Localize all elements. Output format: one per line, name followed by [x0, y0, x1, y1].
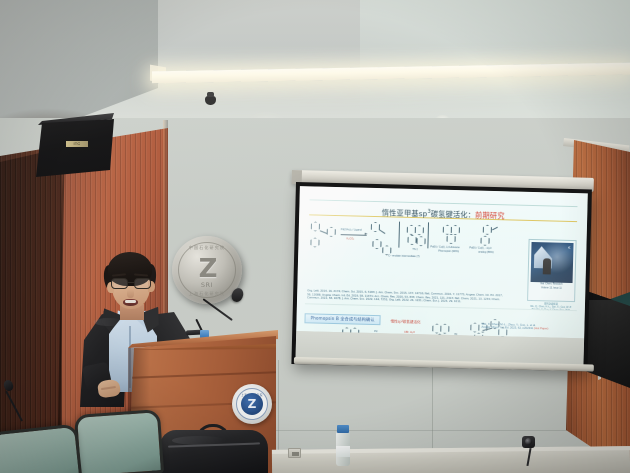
- section2-reference: Wei, X.; Chen, M.-L.; Zhou, Y.; Guo, L. …: [481, 323, 548, 332]
- water-bottle-label: [336, 446, 350, 457]
- section2-header: Phomopsin B 全合成与结构确认: [304, 313, 380, 325]
- chem-ring: [443, 225, 452, 235]
- chem-ring: [371, 222, 380, 232]
- ceiling-camera-icon: [205, 96, 216, 105]
- section2-ref-line2: Angew. Chem. Int. Ed. 2023, 62, e202311 …: [481, 326, 548, 331]
- reaction-arrow: [341, 234, 367, 235]
- speaker-brand-label: ITC: [66, 141, 88, 147]
- audience-chair: [0, 424, 83, 473]
- chem-bond: [379, 229, 385, 233]
- chem-ring: [446, 234, 455, 244]
- presentation-slide: 惰性亚甲基sp3碳氢键活化：前期研究 Pd(OAc)₂ / Ligand K₂C…: [296, 186, 588, 338]
- nose: [127, 289, 134, 298]
- chem-ring: [327, 227, 336, 237]
- emblem-arc-top-text: 中国石化研究院: [189, 245, 225, 251]
- power-outlet: [288, 448, 301, 458]
- intermediate-bracket: [398, 222, 429, 249]
- chem-ring: [451, 225, 460, 235]
- mouth: [123, 299, 138, 306]
- lens-right: [134, 278, 151, 289]
- slide-title: 惰性亚甲基sp3碳氢键活化：前期研究: [382, 208, 505, 220]
- chem-ring: [483, 225, 492, 235]
- projection-surface: 惰性亚甲基sp3碳氢键活化：前期研究 Pd(OAc)₂ / Ligand K₂C…: [295, 186, 587, 367]
- cover-art-figure: [543, 258, 551, 274]
- section2-subtitle: 惰性sp³碳氢键活化: [390, 319, 420, 325]
- slide-body: Pd(OAc)₂ / Ligand K₂CO₃ TS ‡: [304, 217, 579, 334]
- journal-title-line2: Volume 13, Issue 11: [530, 287, 572, 291]
- chem-ring: [311, 221, 320, 231]
- chem-bond: [492, 227, 498, 230]
- water-bottle-cap: [337, 425, 349, 433]
- journal-cover-text: [549, 246, 571, 249]
- journal-cover-card: € Nat. Chem. Research Volume 13, Issue 1…: [527, 239, 577, 302]
- audience-chair: [74, 409, 164, 473]
- camera-lens-icon: [525, 438, 532, 445]
- emblem-podium-arc-bottom: SRI: [249, 412, 255, 415]
- chem-ring: [372, 239, 381, 249]
- wood-wall-left-shadowed: [0, 128, 62, 473]
- journal-cover-image: €: [531, 242, 574, 283]
- institution-emblem-podium: 上海石化研究院 SRI: [232, 384, 272, 424]
- emblem-ring: 上海石化研究院 SRI: [236, 388, 268, 420]
- lecture-hall-photo: ITC 惰性亚甲基sp3碳氢键活化：前期研究: [0, 0, 630, 473]
- projection-screen: 惰性亚甲基sp3碳氢键活化：前期研究 Pd(OAc)₂ / Ligand K₂C…: [291, 182, 592, 371]
- chem-ring: [480, 236, 489, 246]
- wall-speaker: [36, 119, 114, 177]
- chem-bond: [320, 230, 328, 234]
- slide-reference-list: Org. Lett. 2014, 16, 2174; Chem. Sci. 20…: [307, 289, 503, 305]
- chem-ring: [310, 237, 319, 247]
- lens-left: [111, 278, 128, 289]
